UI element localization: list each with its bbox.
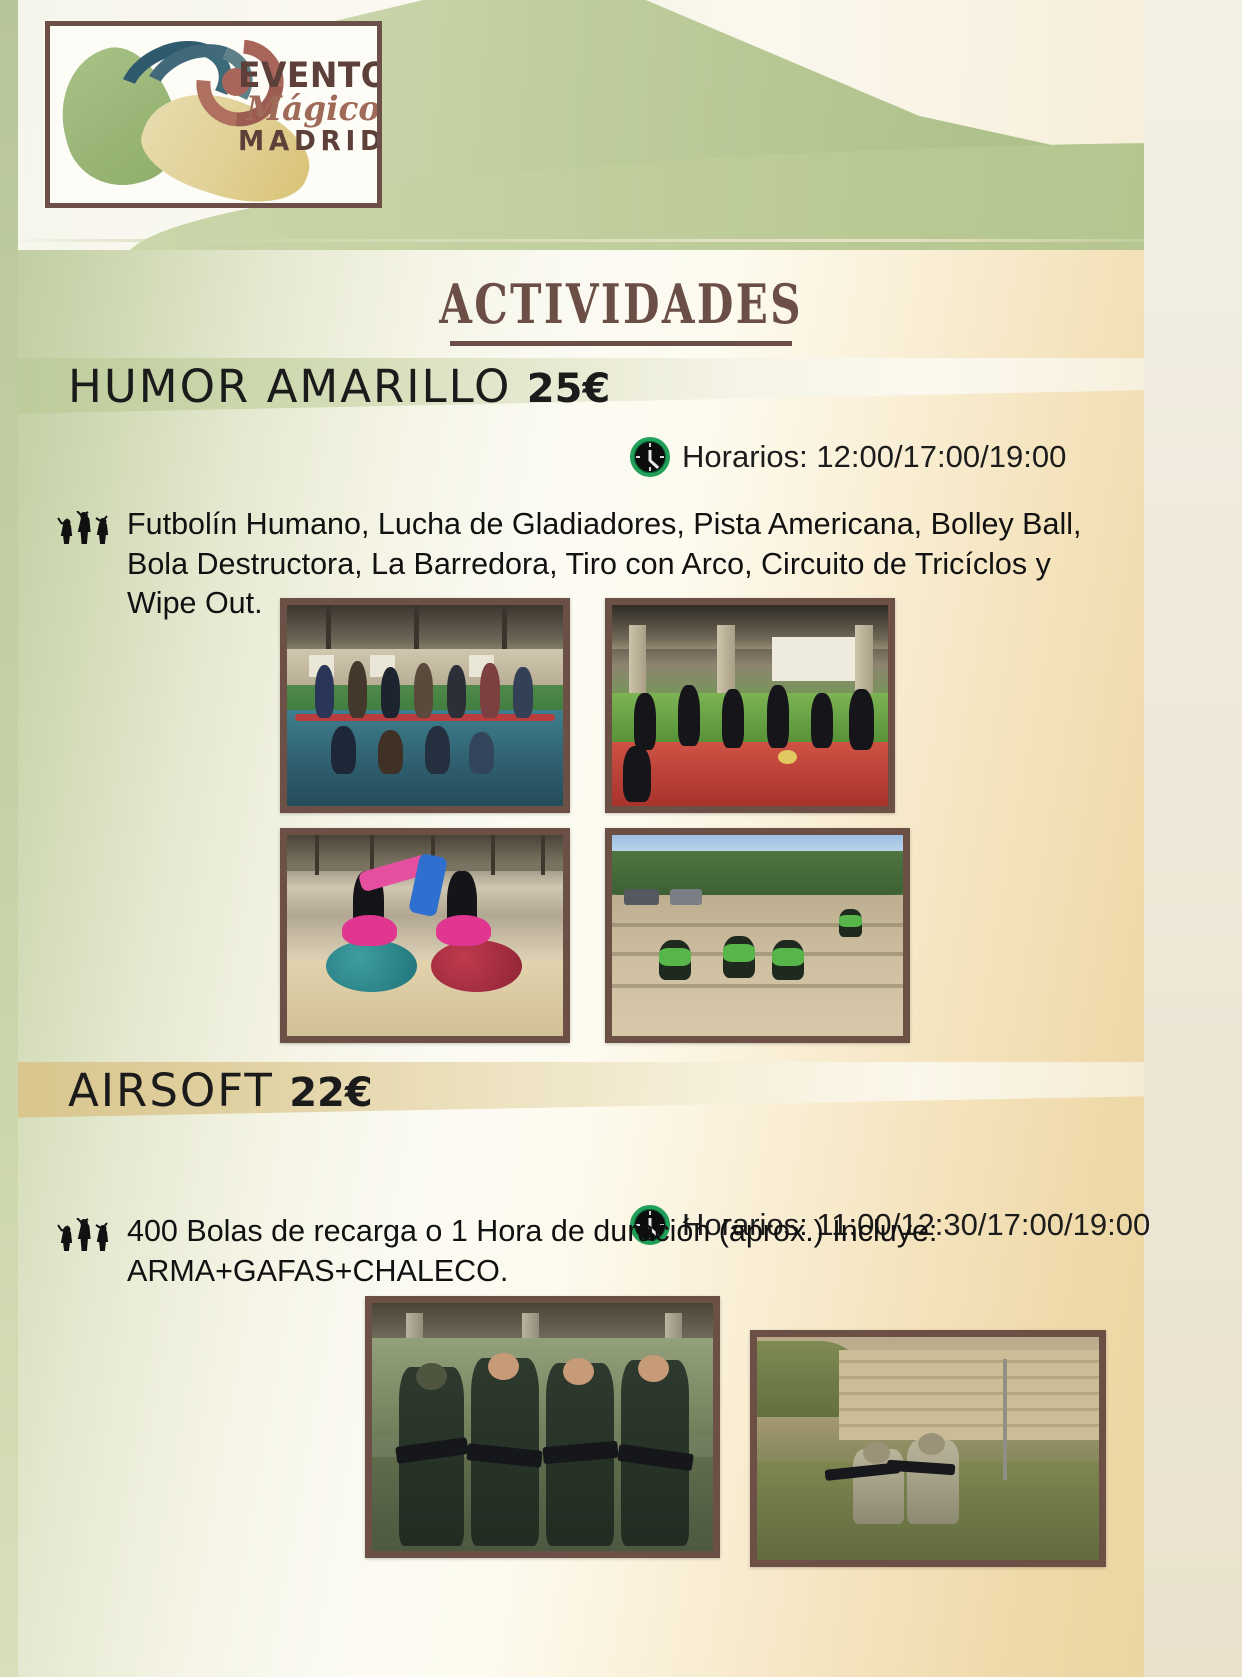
photo-bola-destructora: [280, 828, 570, 1043]
right-edge-strip: [1144, 0, 1242, 1677]
page-title: ACTIVIDADES: [439, 272, 803, 336]
description-row-humor-amarillo: Futbolín Humano, Lucha de Gladiadores, P…: [55, 505, 1115, 624]
left-edge-strip: [0, 0, 18, 1677]
photo-circuito-triciclos: [605, 828, 910, 1043]
page-title-underline: [450, 341, 792, 346]
description-row-airsoft: 400 Bolas de recarga o 1 Hora de duració…: [55, 1212, 1055, 1291]
brand-logo[interactable]: EVENTOS Mágicos MADRID: [45, 21, 382, 208]
logo-line-magicos: Mágicos: [246, 92, 377, 128]
photo-futbolin-humano: [280, 598, 570, 813]
header-divider-line: [0, 239, 1242, 242]
photo-airsoft-team: [365, 1296, 720, 1558]
schedule-row-humor-amarillo: Horarios: 12:00/17:00/19:00: [630, 437, 1066, 477]
flyer-page: EVENTOS Mágicos MADRID ACTIVIDADES HUMOR…: [0, 0, 1242, 1677]
page-title-block: ACTIVIDADES: [0, 272, 1242, 346]
section-price-humor-amarillo: 25€: [527, 366, 611, 412]
logo-line-madrid: MADRID: [238, 127, 377, 155]
photo-inflatable-arena: [605, 598, 895, 813]
section-title-humor-amarillo: HUMOR AMARILLO 25€: [68, 360, 610, 413]
description-text-humor-amarillo: Futbolín Humano, Lucha de Gladiadores, P…: [127, 505, 1115, 624]
section-name-airsoft: AIRSOFT: [68, 1064, 274, 1117]
schedule-text-humor-amarillo: Horarios: 12:00/17:00/19:00: [682, 439, 1066, 475]
photo-airsoft-field: [750, 1330, 1106, 1567]
section-title-airsoft: AIRSOFT 22€: [68, 1064, 373, 1117]
description-text-airsoft-line2: ARMA+GAFAS+CHALECO.: [127, 1252, 937, 1292]
section-name-humor-amarillo: HUMOR AMARILLO: [68, 360, 511, 413]
clock-icon: [630, 437, 670, 477]
jumping-people-icon: [55, 511, 113, 551]
jumping-people-icon: [55, 1218, 113, 1258]
description-text-airsoft-line1: 400 Bolas de recarga o 1 Hora de duració…: [127, 1212, 937, 1252]
section-price-airsoft: 22€: [289, 1070, 373, 1116]
